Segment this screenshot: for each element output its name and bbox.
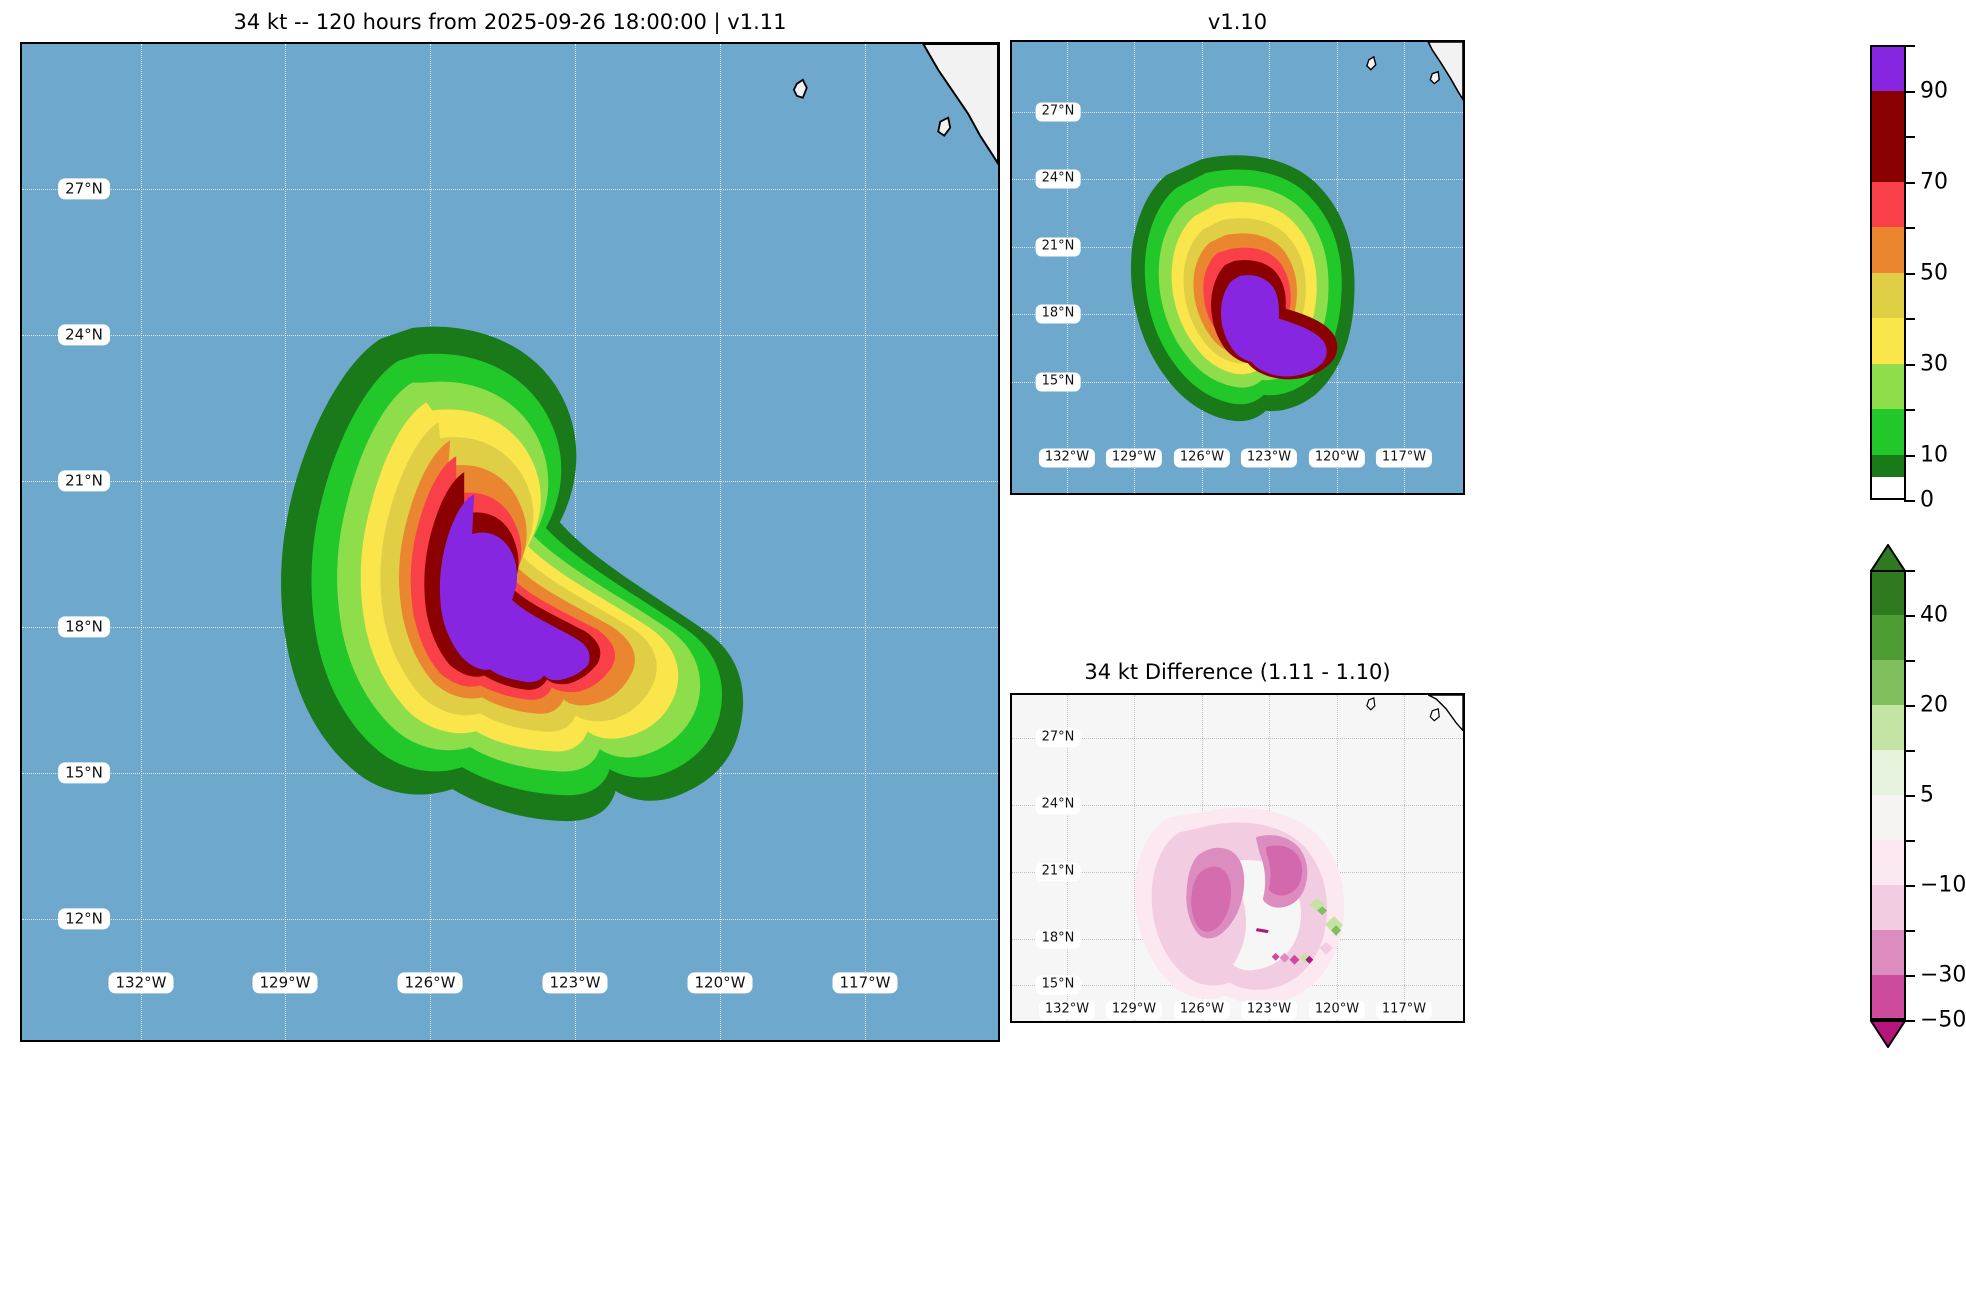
v110-panel-title: v1.10 [1010, 10, 1465, 34]
lat-label-difference: 27°N [1036, 729, 1081, 748]
cbar-band-70-90 [1870, 91, 1906, 182]
diff-cbar-band-30-40 [1870, 615, 1906, 660]
lat-label-v110: 21°N [1036, 238, 1081, 257]
main-panel-title: 34 kt -- 120 hours from 2025-09-26 18:00… [20, 10, 1000, 34]
lon-label-main: 126°W [398, 972, 463, 993]
lat-label-v110: 24°N [1036, 170, 1081, 189]
cbar-ticklabel: 90 [1920, 78, 1948, 103]
diff-cbar-tick [1904, 750, 1915, 752]
diff-cbar-tick [1904, 1020, 1915, 1022]
lat-label-main: 15°N [58, 762, 110, 783]
diff-cbar-ticklabel: 5 [1920, 783, 1934, 808]
diff-cbar-ticklabel: 40 [1920, 603, 1948, 628]
lat-label-v110: 15°N [1036, 373, 1081, 392]
cbar-tick [1904, 45, 1915, 47]
lon-label-main: 117°W [833, 972, 898, 993]
diff-cbar-band-5-10 [1870, 750, 1906, 795]
lon-label-difference: 117°W [1376, 1001, 1432, 1020]
cbar-tick [1904, 318, 1915, 320]
diff-cbar-ticklabel: −10 [1920, 873, 1966, 898]
lon-label-v110: 120°W [1309, 449, 1365, 468]
cbar-ticklabel: 10 [1920, 442, 1948, 467]
diff-cbar-tick [1904, 795, 1915, 797]
diff-cbar-tick [1904, 660, 1915, 662]
cbar-ticklabel: 30 [1920, 351, 1948, 376]
difference-panel-title: 34 kt Difference (1.11 - 1.10) [1010, 660, 1465, 684]
lon-label-difference: 129°W [1106, 1001, 1162, 1020]
lon-label-difference: 126°W [1174, 1001, 1230, 1020]
cbar-band-0-5 [1870, 477, 1906, 500]
cbar-tick [1904, 500, 1915, 502]
cbar-tick [1904, 409, 1915, 411]
cbar-tick [1904, 273, 1915, 275]
diff-cbar-ticklabel: −50 [1920, 1008, 1966, 1033]
lon-label-v110: 126°W [1174, 449, 1230, 468]
lat-label-main: 18°N [58, 616, 110, 637]
diff-cbar-tick [1904, 930, 1915, 932]
lon-label-main: 123°W [543, 972, 608, 993]
lon-label-v110: 123°W [1241, 449, 1297, 468]
cbar-tick [1904, 136, 1915, 138]
lon-label-main: 132°W [109, 972, 174, 993]
diff-cbar-tick [1904, 705, 1915, 707]
lat-label-difference: 18°N [1036, 930, 1081, 949]
colorbar-extend-bottom-arrow [1870, 1020, 1906, 1048]
colorbar-extend-top-arrow [1870, 544, 1906, 572]
cbar-band-20-30 [1870, 364, 1906, 410]
diff-cbar-band-10-20 [1870, 705, 1906, 750]
diff-cbar-ticklabel: −30 [1920, 963, 1966, 988]
lon-label-difference: 132°W [1039, 1001, 1095, 1020]
cbar-tick [1904, 227, 1915, 229]
diff-cbar-band--20--10 [1870, 885, 1906, 930]
lat-label-main: 12°N [58, 908, 110, 929]
main-map-panel[interactable]: 27°N 24°N 21°N 18°N 15°N 12°N 132°W 129°… [20, 42, 1000, 1042]
diff-cbar-ticklabel: 20 [1920, 693, 1948, 718]
coastline-layer [22, 44, 998, 1040]
lon-label-v110: 129°W [1106, 449, 1162, 468]
cbar-ticklabel: 50 [1920, 260, 1948, 285]
diff-cbar-band--40--30 [1870, 975, 1906, 1020]
cbar-band-40-50 [1870, 273, 1906, 319]
diff-cbar-tick [1904, 885, 1915, 887]
diff-cbar-band--5-5 [1870, 795, 1906, 840]
diff-cbar-band-40-50 [1870, 570, 1906, 615]
cbar-tick [1904, 91, 1915, 93]
cbar-band-30-40 [1870, 318, 1906, 364]
diff-cbar-band--10--5 [1870, 840, 1906, 885]
lat-label-v110: 27°N [1036, 103, 1081, 122]
lon-label-v110: 132°W [1039, 449, 1095, 468]
cbar-tick [1904, 182, 1915, 184]
cbar-band-90-100 [1870, 45, 1906, 91]
lat-label-main: 21°N [58, 470, 110, 491]
lon-label-difference: 123°W [1241, 1001, 1297, 1020]
diff-cbar-band-20-30 [1870, 660, 1906, 705]
diff-cbar-band--30--20 [1870, 930, 1906, 975]
v110-map-panel[interactable]: 27°N 24°N 21°N 18°N 15°N 132°W 129°W 126… [1010, 40, 1465, 495]
lat-label-v110: 18°N [1036, 305, 1081, 324]
diff-cbar-tick [1904, 570, 1915, 572]
cbar-band-5-10 [1870, 455, 1906, 478]
lon-label-main: 120°W [688, 972, 753, 993]
lat-label-difference: 15°N [1036, 976, 1081, 995]
lat-label-difference: 24°N [1036, 796, 1081, 815]
lat-label-main: 27°N [58, 178, 110, 199]
cbar-band-60-70 [1870, 182, 1906, 228]
probability-colorbar[interactable]: 90 70 50 30 10 0 [1870, 45, 1906, 500]
lon-label-difference: 120°W [1309, 1001, 1365, 1020]
diff-cbar-tick [1904, 840, 1915, 842]
lat-label-difference: 21°N [1036, 863, 1081, 882]
lon-label-main: 129°W [253, 972, 318, 993]
cbar-tick [1904, 364, 1915, 366]
lon-label-v110: 117°W [1376, 449, 1432, 468]
cbar-ticklabel: 70 [1920, 169, 1948, 194]
difference-colorbar[interactable]: 40 20 5 −10 −30 −50 [1870, 570, 1906, 1020]
difference-map-panel[interactable]: 27°N 24°N 21°N 18°N 15°N 132°W 129°W 126… [1010, 693, 1465, 1023]
cbar-ticklabel: 0 [1920, 488, 1934, 513]
diff-cbar-tick [1904, 975, 1915, 977]
cbar-tick [1904, 455, 1915, 457]
diff-cbar-tick [1904, 615, 1915, 617]
cbar-band-10-20 [1870, 409, 1906, 455]
lat-label-main: 24°N [58, 324, 110, 345]
cbar-band-50-60 [1870, 227, 1906, 273]
